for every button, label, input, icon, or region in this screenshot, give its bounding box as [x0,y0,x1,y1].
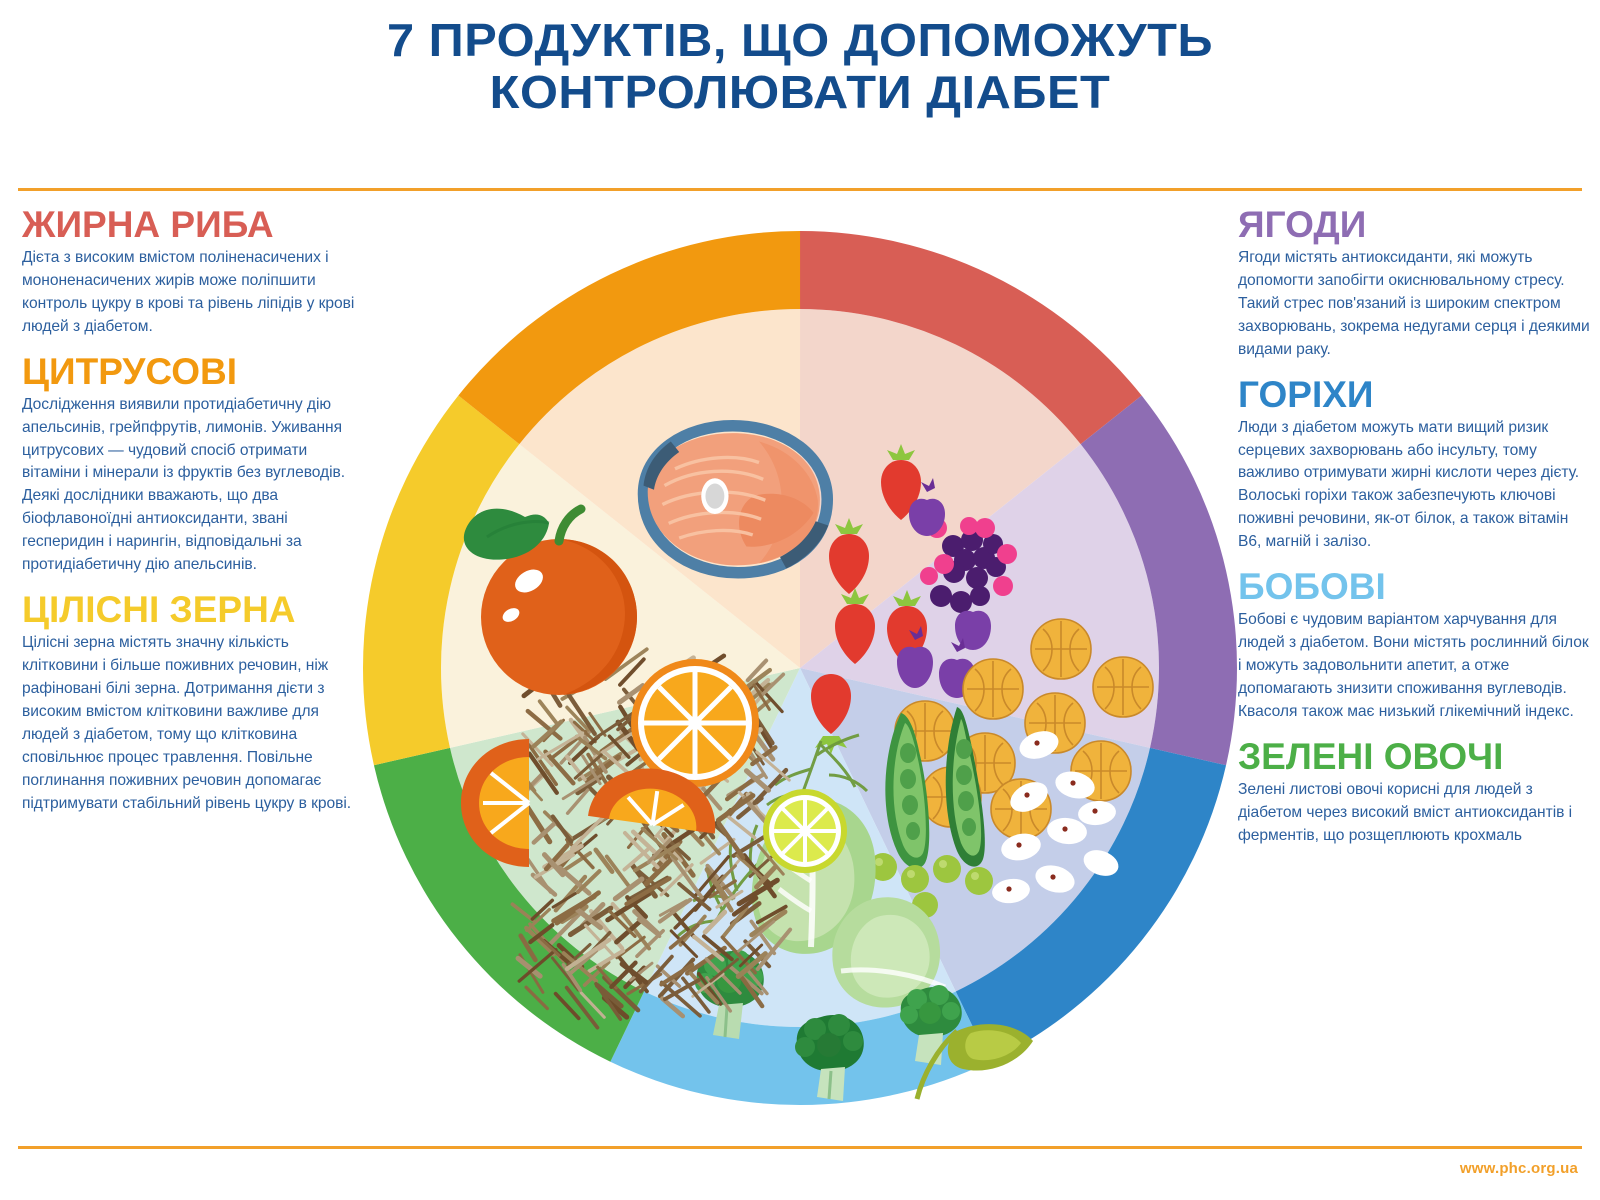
salmon-steak-icon [635,426,828,573]
section-green-vegetables: ЗЕЛЕНІ ОВОЧІ Зелені листові овочі корисн… [1238,738,1590,848]
section-heading-legumes: БОБОВІ [1238,568,1590,605]
divider-top [18,188,1582,191]
section-body-legumes: Бобові є чудовим варіантом харчування дл… [1238,609,1590,724]
section-body-nuts: Люди з діабетом можуть мати вищий ризик … [1238,417,1590,555]
left-column: ЖИРНА РИБА Дієта з високим вмістом полін… [22,206,362,829]
page-title: 7 ПРОДУКТІВ, ЩО ДОПОМОЖУТЬ КОНТРОЛЮВАТИ … [0,14,1600,119]
section-body-citrus: Дослідження виявили протидіабетичну дію … [22,394,362,577]
section-fatty-fish: ЖИРНА РИБА Дієта з високим вмістом полін… [22,206,362,339]
section-heading-nuts: ГОРІХИ [1238,376,1590,413]
section-heading-green-vegetables: ЗЕЛЕНІ ОВОЧІ [1238,738,1590,775]
section-heading-citrus: ЦИТРУСОВІ [22,353,362,390]
divider-bottom [18,1146,1582,1149]
infographic-page: 7 ПРОДУКТІВ, ЩО ДОПОМОЖУТЬ КОНТРОЛЮВАТИ … [0,0,1600,1200]
section-heading-fatty-fish: ЖИРНА РИБА [22,206,362,243]
orange-slice-large [631,659,759,787]
section-body-berries: Ягоди містять антиоксиданти, які можуть … [1238,247,1590,362]
food-wheel-chart [363,231,1237,1105]
footer-website-url[interactable]: www.phc.org.ua [1460,1160,1578,1177]
title-line-2: КОНТРОЛЮВАТИ ДІАБЕТ [0,66,1600,118]
section-nuts: ГОРІХИ Люди з діабетом можуть мати вищий… [1238,376,1590,555]
section-citrus: ЦИТРУСОВІ Дослідження виявили протидіабе… [22,353,362,577]
section-body-green-vegetables: Зелені листові овочі корисні для людей з… [1238,779,1590,848]
section-legumes: БОБОВІ Бобові є чудовим варіантом харчув… [1238,568,1590,724]
section-whole-grains: ЦІЛІСНІ ЗЕРНА Цілісні зерна містять знач… [22,591,362,815]
section-berries: ЯГОДИ Ягоди містять антиоксиданти, які м… [1238,206,1590,362]
lime-slice [763,789,847,873]
right-column: ЯГОДИ Ягоди містять антиоксиданти, які м… [1238,206,1590,862]
section-body-fatty-fish: Дієта з високим вмістом поліненасичених … [22,247,362,339]
section-heading-berries: ЯГОДИ [1238,206,1590,243]
title-line-1: 7 ПРОДУКТІВ, ЩО ДОПОМОЖУТЬ [0,14,1600,66]
section-heading-whole-grains: ЦІЛІСНІ ЗЕРНА [22,591,362,628]
section-body-whole-grains: Цілісні зерна містять значну кількість к… [22,632,362,815]
